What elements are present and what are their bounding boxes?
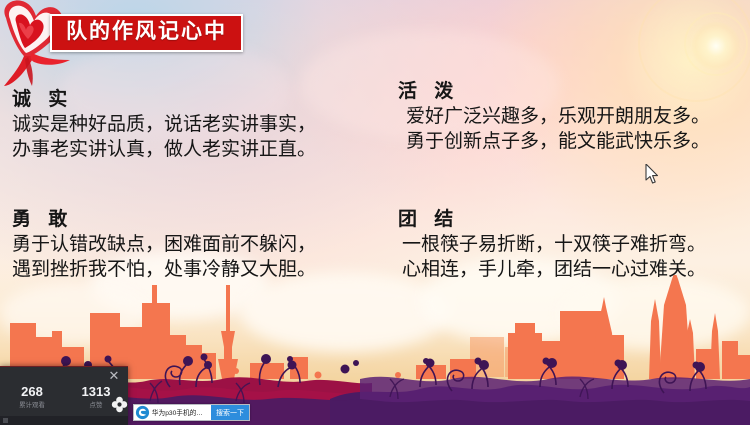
search-button[interactable]: 搜索一下	[211, 405, 249, 420]
section-line: 办事老实讲认真，做人老实讲正直。	[12, 137, 316, 162]
section-line: 一根筷子易折断，十双筷子难折弯。	[398, 232, 706, 257]
browser-search-bar[interactable]: 华为p30手机的… 搜索一下	[133, 404, 250, 421]
lens-flare-core	[692, 22, 740, 70]
section-heading: 诚 实	[12, 88, 316, 112]
lens-flare-ring	[684, 12, 748, 76]
skyline-left	[10, 285, 186, 379]
section-line: 诚实是种好品质，说话老实讲事实，	[12, 112, 316, 137]
slide-canvas: 队的作风记心中 诚 实 诚实是种好品质，说话老实讲事实， 办事老实讲认真，做人老…	[0, 0, 750, 425]
stats-bottom-bar	[0, 416, 128, 425]
section-chengshi: 诚 实 诚实是种好品质，说话老实讲事实， 办事老实讲认真，做人老实讲正直。	[12, 88, 316, 162]
section-heading: 勇 敢	[12, 208, 316, 232]
section-tuanjie: 团 结 一根筷子易折断，十双筷子难折弯。 心相连，手儿牵，团结一心过难关。	[398, 208, 706, 282]
section-line: 爱好广泛兴趣多，乐观开朗朋友多。	[398, 104, 710, 129]
stat-views: 268 累计观看	[0, 384, 64, 411]
page-title: 队的作风记心中	[66, 19, 227, 45]
stat-value: 268	[0, 384, 64, 399]
slide-title-banner: 队的作风记心中	[50, 14, 243, 52]
section-huopo: 活 泼 爱好广泛兴趣多，乐观开朗朋友多。 勇于创新点子多，能文能武快乐多。	[398, 80, 710, 154]
mouse-pointer-icon	[645, 164, 659, 184]
skyline-center	[178, 345, 308, 379]
edge-browser-icon	[135, 405, 150, 420]
close-icon[interactable]: ✕	[107, 369, 121, 383]
stats-overlay-panel: ✕ 268 累计观看 1313 点赞	[0, 366, 128, 425]
section-yonggan: 勇 敢 勇于认错改缺点，困难面前不躲闪， 遇到挫折我不怕，处事冷静又大胆。	[12, 208, 316, 282]
section-heading: 团 结	[398, 208, 706, 232]
flower-logo-icon[interactable]	[110, 395, 129, 414]
section-line: 勇于认错改缺点，困难面前不躲闪，	[12, 232, 316, 257]
tv-tower	[218, 285, 238, 379]
stats-row: 268 累计观看 1313 点赞	[0, 384, 128, 411]
search-input[interactable]: 华为p30手机的…	[150, 408, 208, 418]
section-heading: 活 泼	[398, 80, 710, 104]
stat-label: 累计观看	[3, 401, 62, 410]
status-dot	[3, 418, 8, 423]
section-line: 勇于创新点子多，能文能武快乐多。	[398, 129, 710, 154]
